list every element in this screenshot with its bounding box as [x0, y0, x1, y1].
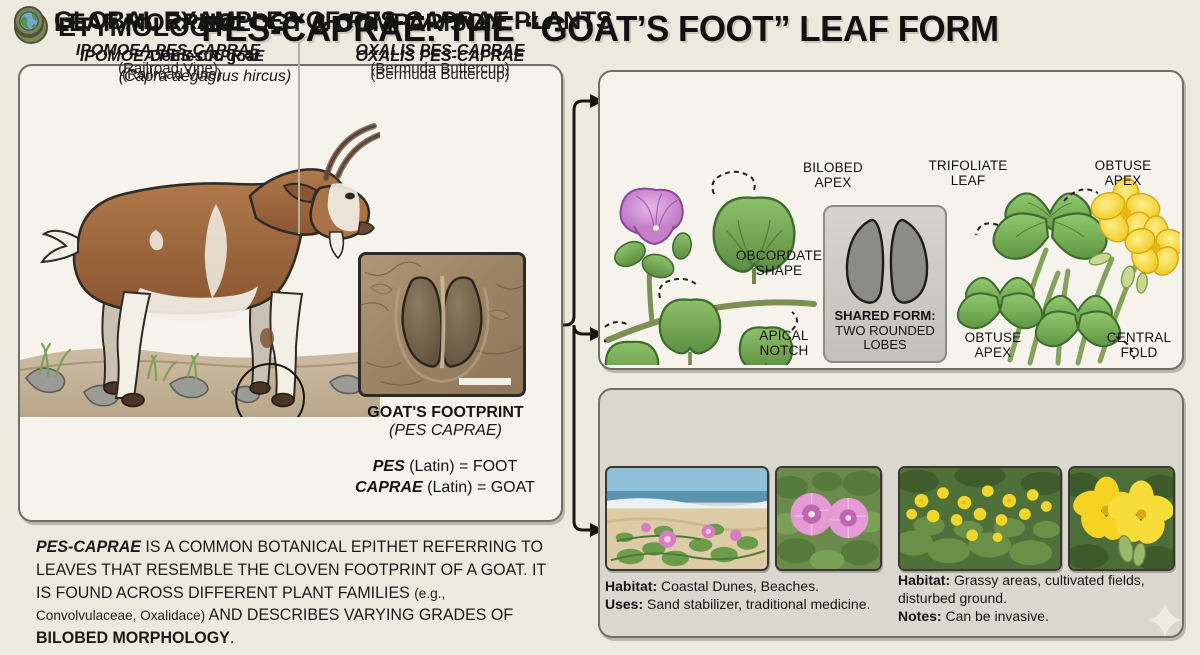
oxalis-facts: Habitat: Grassy areas, cultivated fields…: [898, 572, 1168, 626]
pink-morning-glory-flowers-photo: [775, 466, 882, 571]
shared-form-label: SHARED FORM:: [834, 308, 935, 323]
global-header: GLOBAL EXAMPLES OF PES-CAPRAE PLANTS: [14, 6, 612, 36]
latin-definitions: PES (Latin) = FOOT CAPRAE (Latin) = GOAT: [330, 458, 560, 500]
oxalis-habitat: Habitat: Grassy areas, cultivated fields…: [898, 572, 1168, 608]
infographic-root: PES-CAPRAE: THE “GOAT’S FOOT” LEAF FORM …: [0, 0, 1200, 655]
annotation-apical-notch: APICAL NOTCH: [748, 328, 820, 358]
goat-footprint-photo: [358, 252, 526, 397]
ipomoea-habitat: Habitat: Coastal Dunes, Beaches.: [605, 578, 885, 596]
annotation-obcordate-shape: OBCORDATE SHAPE: [728, 248, 830, 278]
sparkle-icon: [1148, 603, 1182, 637]
ipomoea-uses: Uses: Sand stabilizer, traditional medic…: [605, 596, 885, 614]
latin-definition-caprae: CAPRAE (Latin) = GOAT: [330, 479, 560, 497]
globe-icon: [14, 6, 44, 36]
ipomoea-facts: Habitat: Coastal Dunes, Beaches. Uses: S…: [605, 578, 885, 614]
oxalis-notes: Notes: Can be invasive.: [898, 608, 1168, 626]
shared-form-caption: SHARED FORM: TWO ROUNDED LOBES: [825, 309, 945, 353]
summary-blurb: PES-CAPRAE IS A COMMON BOTANICAL EPITHET…: [36, 536, 548, 650]
beach-dune-vine-photo: [605, 466, 769, 571]
annotation-obtuse-apex-top: OBTUSE APEX: [1082, 158, 1164, 188]
scale-bar: [459, 378, 511, 385]
global-heading: GLOBAL EXAMPLES OF PES-CAPRAE PLANTS: [54, 7, 612, 36]
global-column-oxalis-title: OXALIS PES-CAPRAE (Bermuda Buttercup): [300, 42, 580, 77]
annotation-central-fold: CENTRAL FOLD: [1100, 330, 1178, 360]
footprint-caption-line1: GOAT'S FOOTPRINT: [338, 404, 553, 422]
global-column-ipomoea-title: IPOMOEA PES-CAPRAE (Railroad Vine): [18, 42, 318, 77]
yellow-oxalis-flower-closeup-photo: [1068, 466, 1175, 571]
footprint-caption: GOAT'S FOOTPRINT (PES CAPRAE): [338, 404, 553, 440]
latin-definition-pes: PES (Latin) = FOOT: [330, 458, 560, 476]
footprint-caption-line2: (PES CAPRAE): [338, 422, 553, 440]
goat-illustration: [20, 92, 380, 417]
annotation-trifoliate-leaf: TRIFOLIATE LEAF: [918, 158, 1018, 188]
annotation-obtuse-apex-bottom: OBTUSE APEX: [952, 330, 1034, 360]
shared-form-detail: TWO ROUNDED LOBES: [835, 323, 935, 353]
annotation-bilobed-apex: BILOBED APEX: [786, 160, 880, 190]
yellow-oxalis-field-photo: [898, 466, 1062, 571]
shared-form-box: SHARED FORM: TWO ROUNDED LOBES: [823, 205, 947, 363]
